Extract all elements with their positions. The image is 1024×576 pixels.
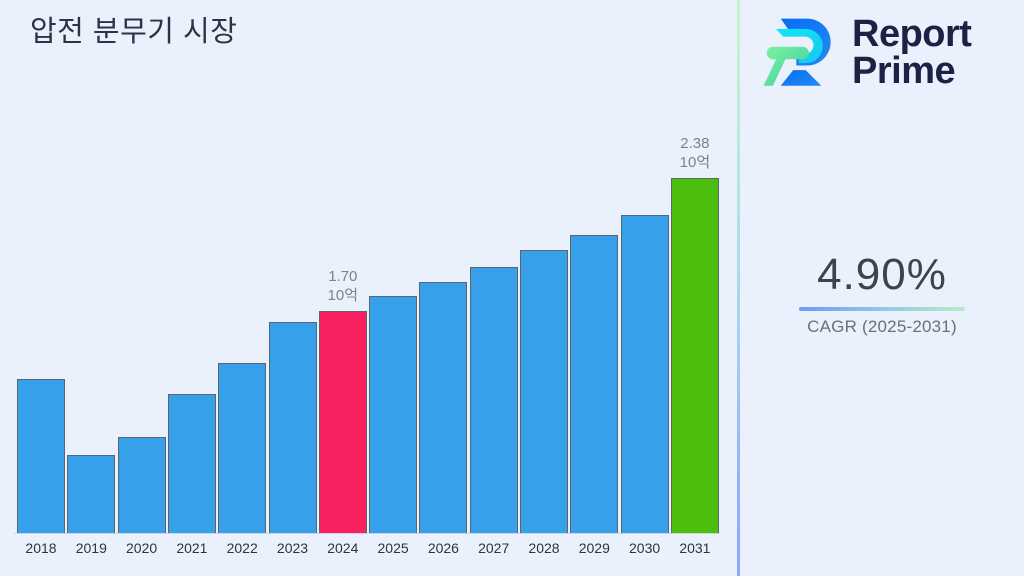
bar-rect-2030[interactable] xyxy=(621,215,669,533)
brand-name-line2: Prime xyxy=(852,53,971,90)
bar-2020[interactable] xyxy=(118,437,166,533)
bar-rect-2026[interactable] xyxy=(419,282,467,533)
bar-rect-2031[interactable] xyxy=(671,178,719,533)
cagr-block: 4.90% CAGR (2025-2031) xyxy=(740,250,1024,337)
bar-2022[interactable] xyxy=(218,363,266,533)
bar-rect-2025[interactable] xyxy=(369,296,417,533)
bar-rect-2027[interactable] xyxy=(470,267,518,533)
bar-2024[interactable]: 1.70 10억 xyxy=(319,311,367,533)
bar-2018[interactable] xyxy=(17,379,65,533)
bar-rect-2018[interactable] xyxy=(17,379,65,533)
bar-rect-2024[interactable] xyxy=(319,311,367,533)
report-prime-logo-icon xyxy=(762,14,840,92)
x-axis-line xyxy=(14,533,720,534)
brand-wordmark: Report Prime xyxy=(852,16,971,90)
brand-panel: Report Prime 4.90% CAGR (2025-2031) xyxy=(740,0,1024,576)
bar-rect-2022[interactable] xyxy=(218,363,266,533)
bar-rect-2019[interactable] xyxy=(67,455,115,533)
bar-rect-2028[interactable] xyxy=(520,250,568,533)
bar-2025[interactable] xyxy=(369,296,417,533)
chart-panel: 압전 분무기 시장 2018201920202021202220231.70 1… xyxy=(0,0,738,576)
bar-rect-2021[interactable] xyxy=(168,394,216,533)
brand-name-line1: Report xyxy=(852,16,971,53)
bar-2029[interactable] xyxy=(570,235,618,533)
bar-2021[interactable] xyxy=(168,394,216,533)
cagr-divider-rule xyxy=(799,307,965,311)
brand-logo: Report Prime xyxy=(762,14,971,92)
cagr-caption: CAGR (2025-2031) xyxy=(740,317,1024,337)
bar-2019[interactable] xyxy=(67,455,115,533)
bar-2026[interactable] xyxy=(419,282,467,533)
bar-rect-2020[interactable] xyxy=(118,437,166,533)
bar-rect-2029[interactable] xyxy=(570,235,618,533)
bar-2027[interactable] xyxy=(470,267,518,533)
bar-2030[interactable] xyxy=(621,215,669,533)
bar-chart-plot-area: 2018201920202021202220231.70 10억20242025… xyxy=(0,0,738,576)
bar-2023[interactable] xyxy=(269,322,317,533)
bar-rect-2023[interactable] xyxy=(269,322,317,533)
bar-2028[interactable] xyxy=(520,250,568,533)
cagr-value: 4.90% xyxy=(740,250,1024,300)
bar-2031[interactable]: 2.38 10억 xyxy=(671,178,719,533)
